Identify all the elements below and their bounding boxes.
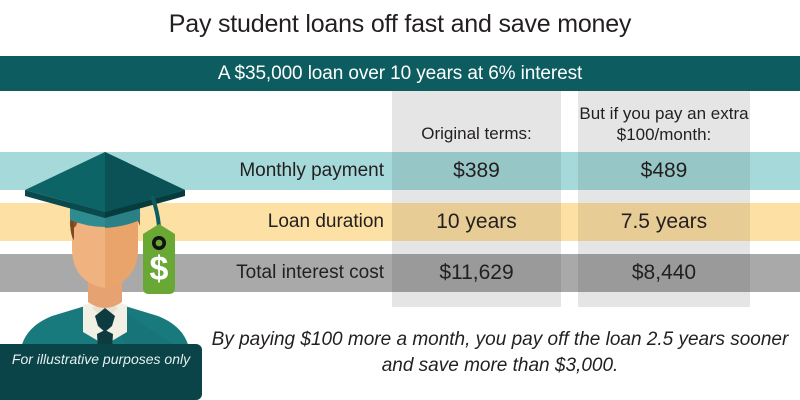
cell-total-interest-extra: $8,440	[578, 254, 750, 292]
cell-monthly-payment-extra: $489	[578, 152, 750, 190]
svg-text:$: $	[150, 250, 169, 288]
cell-loan-duration-extra: 7.5 years	[578, 203, 750, 241]
column-header-extra: But if you pay an extra $100/month:	[578, 103, 750, 145]
subtitle-bar: A $35,000 loan over 10 years at 6% inter…	[0, 56, 800, 91]
cell-loan-duration-original: 10 years	[392, 203, 561, 241]
price-tag-icon: $	[143, 224, 175, 294]
row-label-monthly-payment: Monthly payment	[188, 152, 384, 190]
subtitle-text: A $35,000 loan over 10 years at 6% inter…	[0, 56, 800, 91]
cell-monthly-payment-original: $389	[392, 152, 561, 190]
disclaimer-banner: For illustrative purposes only	[0, 344, 202, 400]
page-title: Pay student loans off fast and save mone…	[0, 9, 800, 39]
disclaimer-text: For illustrative purposes only	[0, 350, 202, 369]
column-header-original: Original terms:	[392, 123, 561, 144]
infographic-canvas: Pay student loans off fast and save mone…	[0, 0, 800, 400]
row-label-total-interest: Total interest cost	[188, 254, 384, 292]
footnote-text: By paying $100 more a month, you pay off…	[210, 327, 790, 379]
row-label-loan-duration: Loan duration	[188, 203, 384, 241]
mortarboard-top	[25, 152, 185, 218]
cell-total-interest-original: $11,629	[392, 254, 561, 292]
